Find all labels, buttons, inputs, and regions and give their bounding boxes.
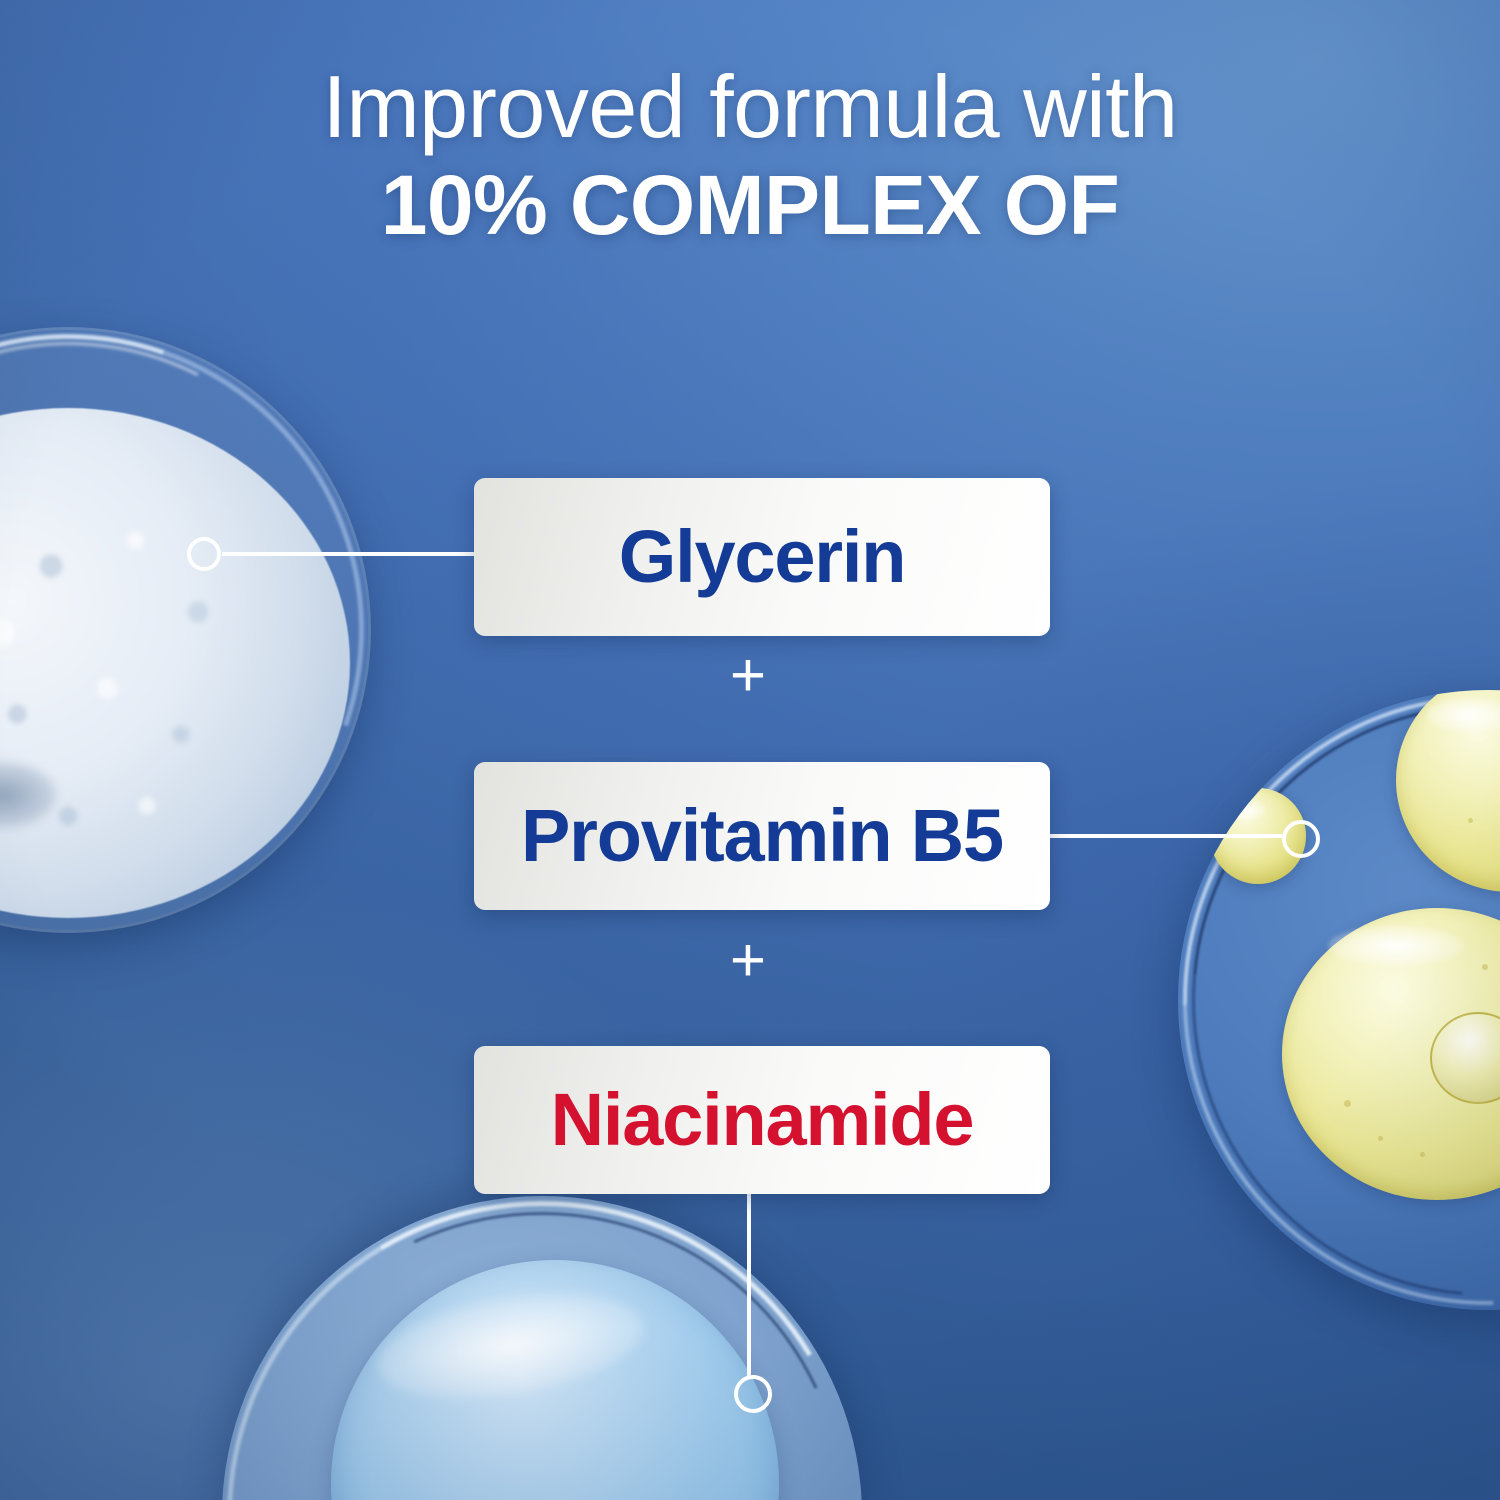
callout-line-provitamin [1050, 834, 1282, 838]
ingredient-card-provitamin-b5[interactable]: Provitamin B5 [474, 762, 1050, 910]
headline: Improved formula with 10% COMPLEX OF [0, 62, 1500, 252]
ingredient-label-glycerin: Glycerin [619, 520, 906, 594]
headline-line-1: Improved formula with [0, 62, 1500, 152]
callout-dot-niacinamide [734, 1375, 772, 1413]
plus-separator-1: + [718, 645, 778, 707]
ingredient-label-niacinamide: Niacinamide [551, 1083, 974, 1157]
ingredient-card-glycerin[interactable]: Glycerin [474, 478, 1050, 636]
callout-dot-provitamin [1282, 820, 1320, 858]
promo-graphic: Improved formula with 10% COMPLEX OF Gly… [0, 0, 1500, 1500]
headline-line-2: 10% COMPLEX OF [0, 158, 1500, 252]
callout-line-glycerin [222, 552, 474, 556]
ingredient-label-provitamin-b5: Provitamin B5 [521, 799, 1003, 873]
callout-dot-glycerin [187, 537, 221, 571]
plus-separator-2: + [718, 930, 778, 992]
ingredient-card-niacinamide[interactable]: Niacinamide [474, 1046, 1050, 1194]
callout-line-niacinamide [747, 1194, 751, 1378]
